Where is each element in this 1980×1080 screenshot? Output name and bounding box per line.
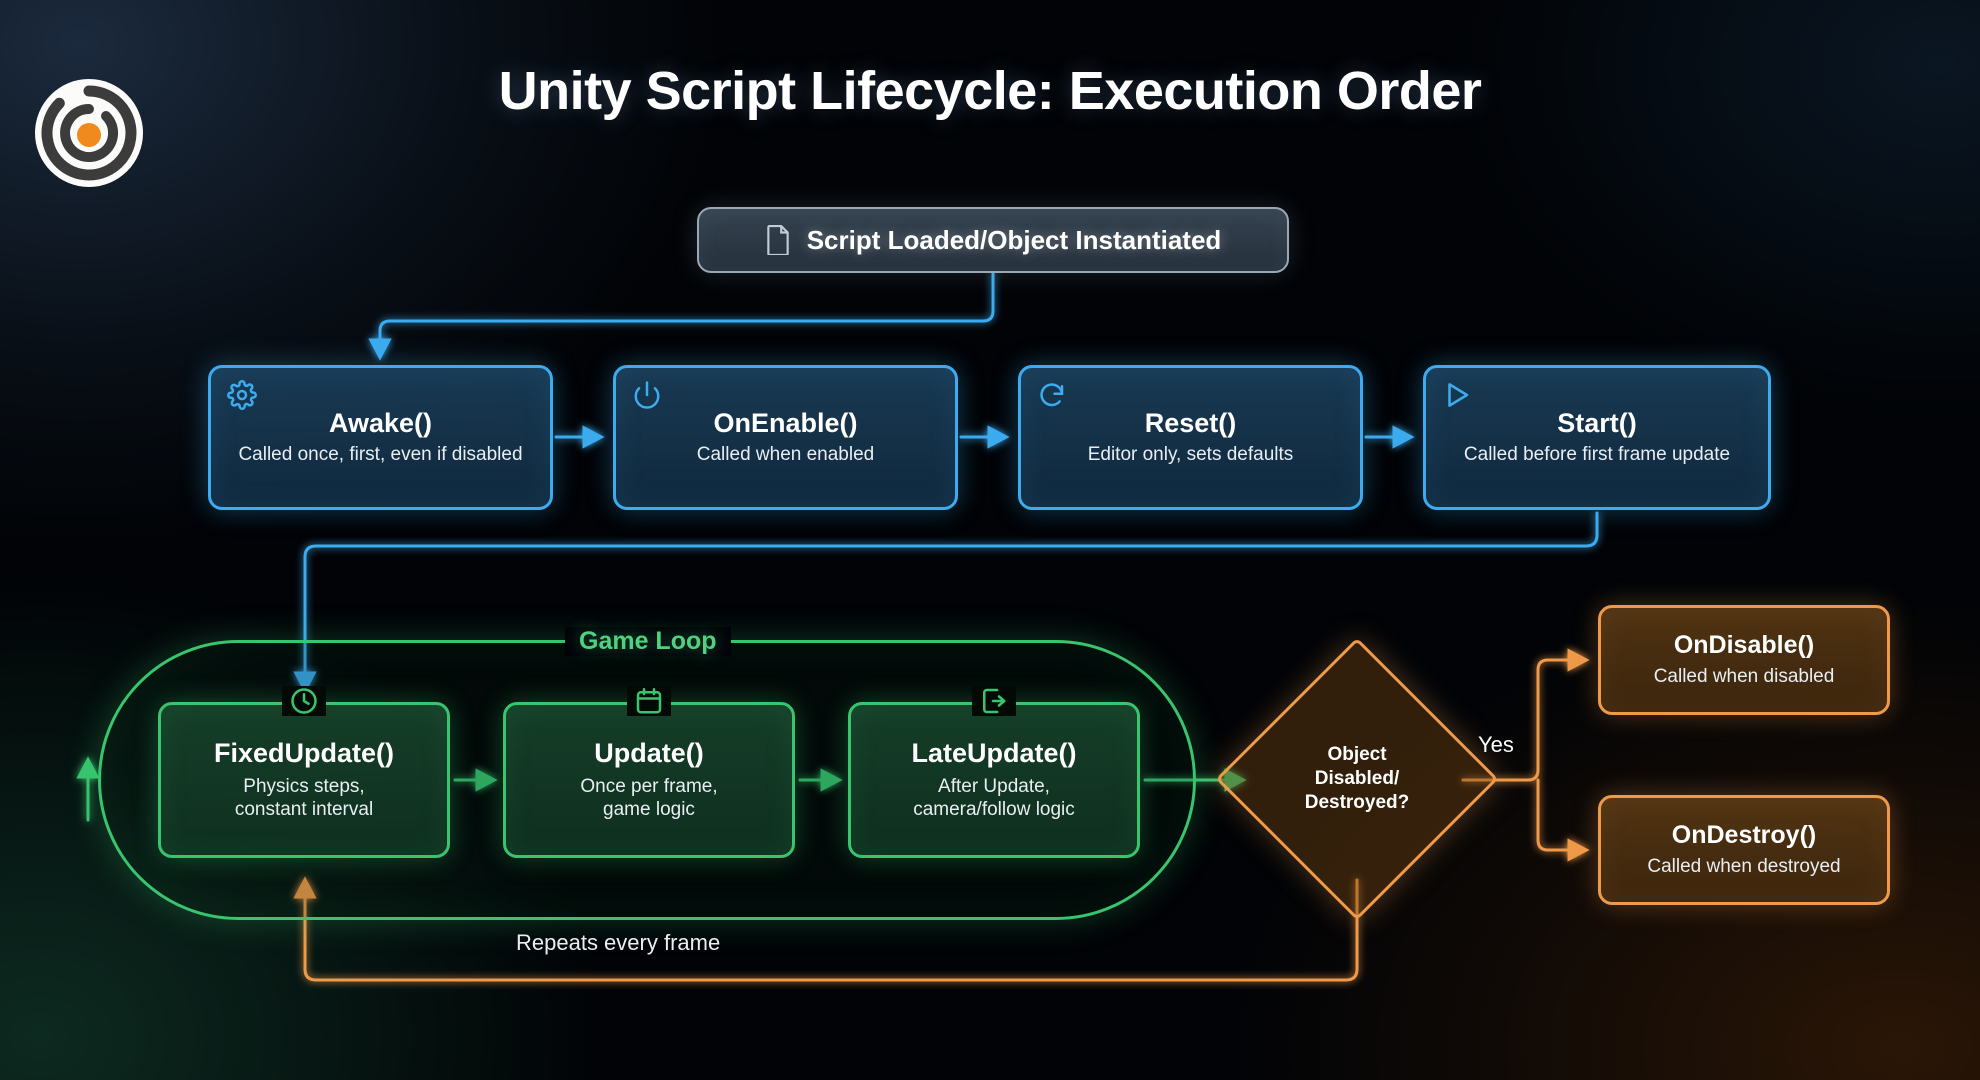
node-title: Awake() bbox=[329, 409, 432, 439]
clock-icon bbox=[282, 686, 326, 716]
node-lateupdate[interactable]: LateUpdate() After Update, camera/follow… bbox=[848, 702, 1140, 858]
node-fixedupdate[interactable]: FixedUpdate() Physics steps, constant in… bbox=[158, 702, 450, 858]
node-subtitle-line1: After Update, bbox=[938, 775, 1050, 798]
node-title: LateUpdate() bbox=[911, 739, 1076, 769]
page-title: Unity Script Lifecycle: Execution Order bbox=[0, 60, 1980, 122]
node-awake[interactable]: Awake() Called once, first, even if disa… bbox=[208, 365, 553, 510]
decision-line-1: Object bbox=[1327, 744, 1386, 765]
decision-text: Object Disabled/ Destroyed? bbox=[1257, 679, 1457, 879]
power-icon bbox=[632, 380, 662, 410]
node-subtitle-line2: constant interval bbox=[235, 798, 373, 821]
node-update[interactable]: Update() Once per frame, game logic bbox=[503, 702, 795, 858]
log-out-icon bbox=[972, 686, 1016, 716]
decision-line-3: Destroyed? bbox=[1305, 792, 1410, 813]
node-subtitle: Editor only, sets defaults bbox=[1088, 443, 1294, 466]
node-title: Start() bbox=[1557, 409, 1637, 439]
node-title: Update() bbox=[594, 739, 704, 769]
decision-line-2: Disabled/ bbox=[1315, 768, 1399, 789]
node-script-loaded[interactable]: Script Loaded/Object Instantiated bbox=[697, 207, 1289, 273]
node-subtitle-line2: camera/follow logic bbox=[913, 798, 1075, 821]
node-title: OnDisable() bbox=[1674, 632, 1814, 660]
refresh-cw-icon bbox=[1037, 380, 1067, 410]
diagram-canvas: Unity Script Lifecycle: Execution Order bbox=[0, 0, 1980, 1080]
node-start[interactable]: Start() Called before first frame update bbox=[1423, 365, 1771, 510]
node-subtitle: Called once, first, even if disabled bbox=[238, 443, 522, 466]
node-subtitle-line1: Once per frame, bbox=[580, 775, 717, 798]
connector-entry-to-awake bbox=[380, 273, 993, 357]
node-title: OnEnable() bbox=[713, 409, 857, 439]
node-ondisable[interactable]: OnDisable() Called when disabled bbox=[1598, 605, 1890, 715]
node-title: Reset() bbox=[1145, 409, 1237, 439]
node-subtitle: Called when destroyed bbox=[1647, 855, 1840, 878]
game-loop-label: Game Loop bbox=[565, 627, 731, 656]
node-ondestroy[interactable]: OnDestroy() Called when destroyed bbox=[1598, 795, 1890, 905]
node-subtitle-line2: game logic bbox=[603, 798, 695, 821]
file-icon bbox=[765, 225, 791, 255]
gear-icon bbox=[227, 380, 257, 410]
node-label: Script Loaded/Object Instantiated bbox=[807, 226, 1222, 255]
node-title: FixedUpdate() bbox=[214, 739, 394, 769]
node-reset[interactable]: Reset() Editor only, sets defaults bbox=[1018, 365, 1363, 510]
calendar-icon bbox=[627, 686, 671, 716]
node-subtitle: Called before first frame update bbox=[1464, 443, 1730, 466]
node-subtitle-line1: Physics steps, bbox=[243, 775, 364, 798]
node-subtitle: Called when enabled bbox=[697, 443, 874, 466]
repeats-every-frame-label: Repeats every frame bbox=[516, 930, 720, 956]
branch-label-yes: Yes bbox=[1478, 732, 1514, 758]
node-subtitle: Called when disabled bbox=[1654, 665, 1835, 688]
connector-decision-to-ondestroy bbox=[1538, 780, 1586, 850]
node-decision-object-disabled-destroyed[interactable]: Object Disabled/ Destroyed? bbox=[1257, 679, 1457, 879]
node-title: OnDestroy() bbox=[1672, 822, 1816, 850]
node-onenable[interactable]: OnEnable() Called when enabled bbox=[613, 365, 958, 510]
play-triangle-icon bbox=[1442, 380, 1472, 410]
